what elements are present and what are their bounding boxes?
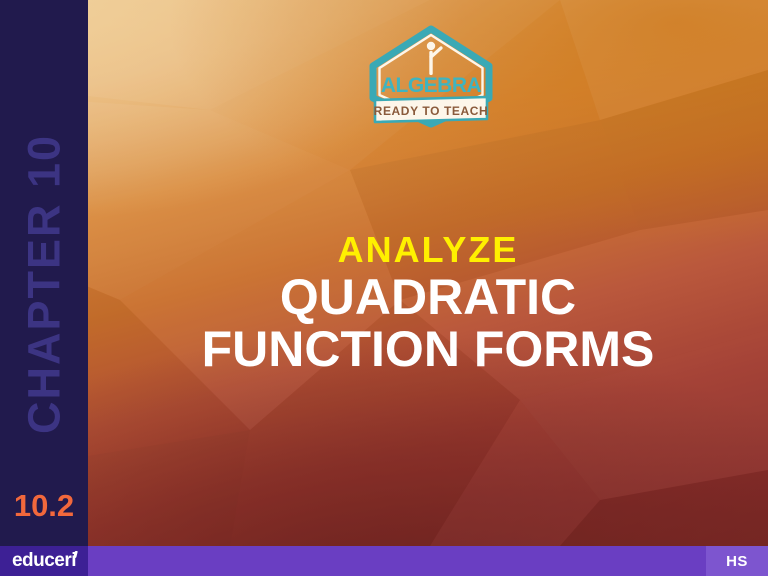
brand-logo: educeri (0, 546, 88, 576)
lesson-title-slide: CHAPTER 10 10.2 ALGEBRA READY TO TEACH A… (0, 0, 768, 576)
brand-text: educeri (12, 550, 76, 571)
chapter-rail: CHAPTER 10 10.2 (0, 0, 88, 546)
lesson-title-line-1: QUADRATIC (88, 272, 768, 322)
lesson-verb: ANALYZE (88, 232, 768, 268)
brand-accent-icon (73, 551, 78, 558)
grade-level-text: HS (726, 553, 748, 570)
title-block: ANALYZE QUADRATIC FUNCTION FORMS (88, 232, 768, 374)
badge-subject-text: ALGEBRA (381, 74, 482, 97)
badge-tagline-text: READY TO TEACH (374, 104, 489, 118)
brand-wordmark: educeri (12, 550, 76, 572)
grade-level-badge: HS (706, 546, 768, 576)
lesson-title-line-2: FUNCTION FORMS (88, 324, 768, 374)
chapter-label: CHAPTER 10 (22, 134, 67, 434)
slide-footer: educeri HS (0, 546, 768, 576)
algebra-badge-icon: ALGEBRA READY TO TEACH (361, 24, 501, 132)
lesson-number: 10.2 (0, 488, 88, 524)
